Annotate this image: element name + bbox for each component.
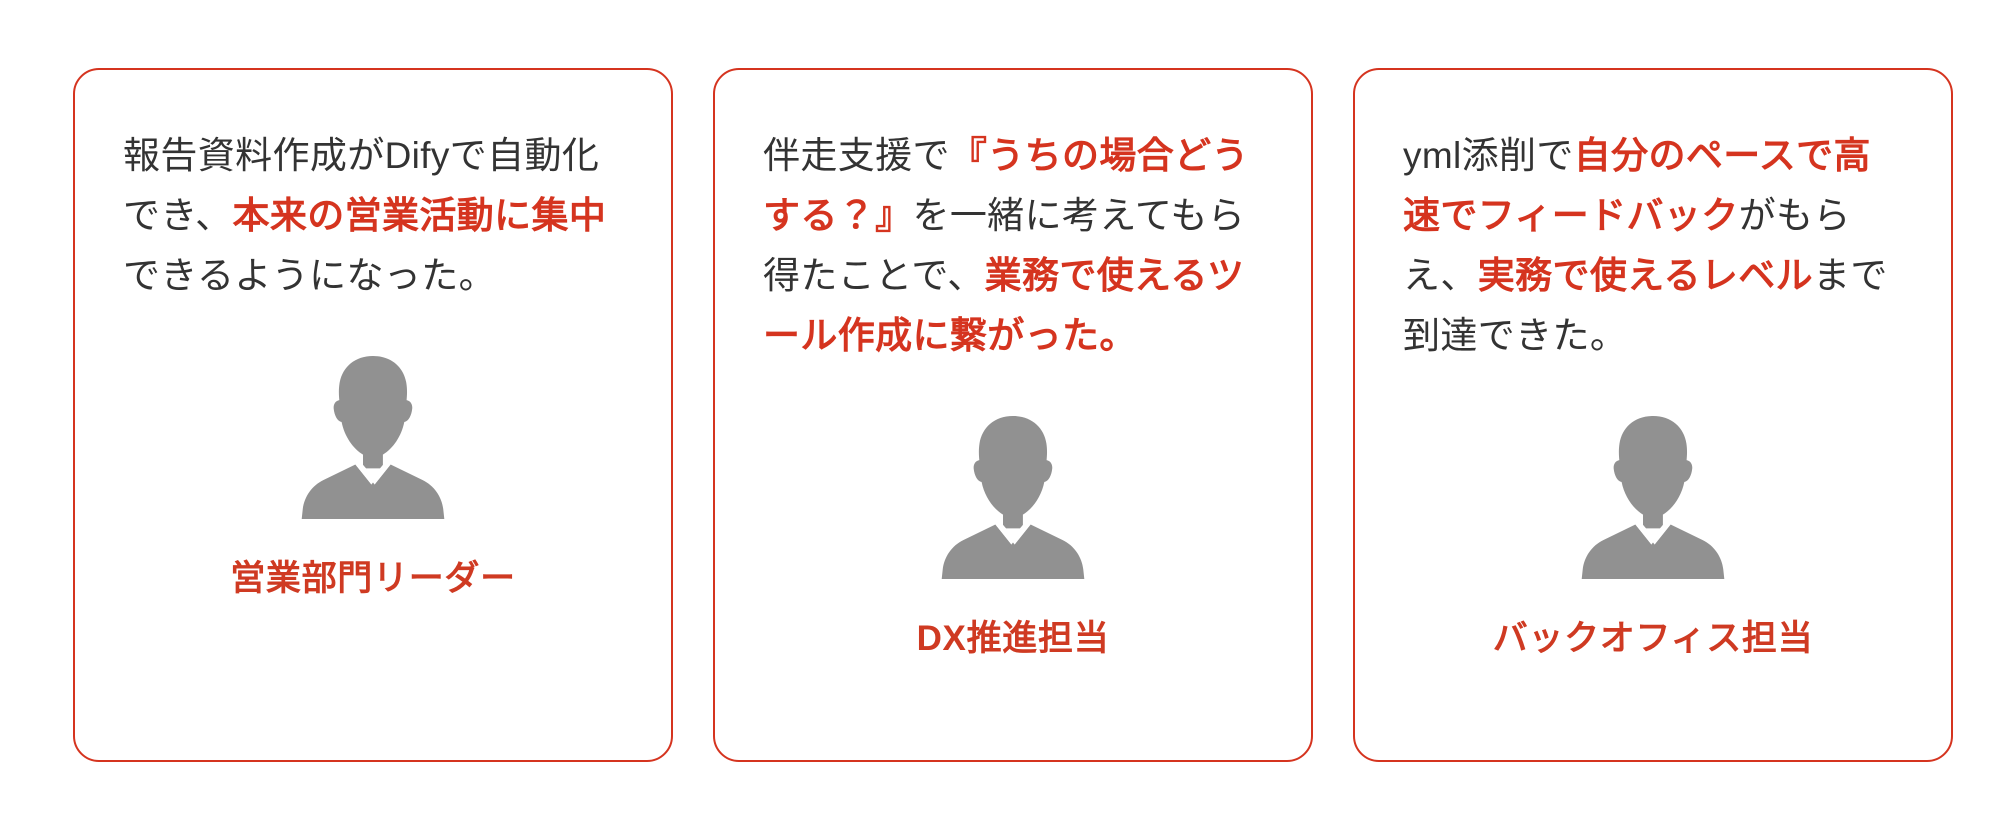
quote-highlight: 本来の営業活動に集中: [233, 195, 607, 236]
avatar: [293, 352, 453, 524]
testimonial-card-sales-leader: 報告資料作成がDifyで自動化でき、本来の営業活動に集中できるようになった。 営…: [73, 68, 673, 762]
person-avatar-icon: [1573, 412, 1733, 584]
quote-plain: できるようになった。: [123, 255, 496, 296]
role-label: 営業部門リーダー: [230, 558, 516, 600]
person-avatar-icon: [933, 412, 1093, 584]
person-avatar-icon: [293, 352, 453, 524]
testimonial-card-back-office: yml添削で自分のペースで高速でフィードバックがもらえ、実務で使えるレベルまで到…: [1353, 68, 1953, 762]
quote-highlight: 実務で使えるレベル: [1478, 255, 1813, 296]
testimonial-board: 報告資料作成がDifyで自動化でき、本来の営業活動に集中できるようになった。 営…: [0, 0, 2000, 832]
role-label: バックオフィス担当: [1493, 618, 1814, 660]
avatar: [933, 412, 1093, 584]
testimonial-quote: 報告資料作成がDifyで自動化でき、本来の営業活動に集中できるようになった。: [115, 126, 631, 306]
testimonial-card-dx-promotion: 伴走支援で『うちの場合どうする？』を一緒に考えてもら得たことで、業務で使えるツー…: [713, 68, 1313, 762]
avatar: [1573, 412, 1733, 584]
quote-plain: 伴走支援で: [763, 135, 950, 176]
testimonial-quote: yml添削で自分のペースで高速でフィードバックがもらえ、実務で使えるレベルまで到…: [1395, 126, 1911, 366]
testimonial-quote: 伴走支援で『うちの場合どうする？』を一緒に考えてもら得たことで、業務で使えるツー…: [755, 126, 1271, 366]
quote-plain: yml添削で: [1403, 135, 1574, 176]
role-label: DX推進担当: [917, 618, 1110, 660]
